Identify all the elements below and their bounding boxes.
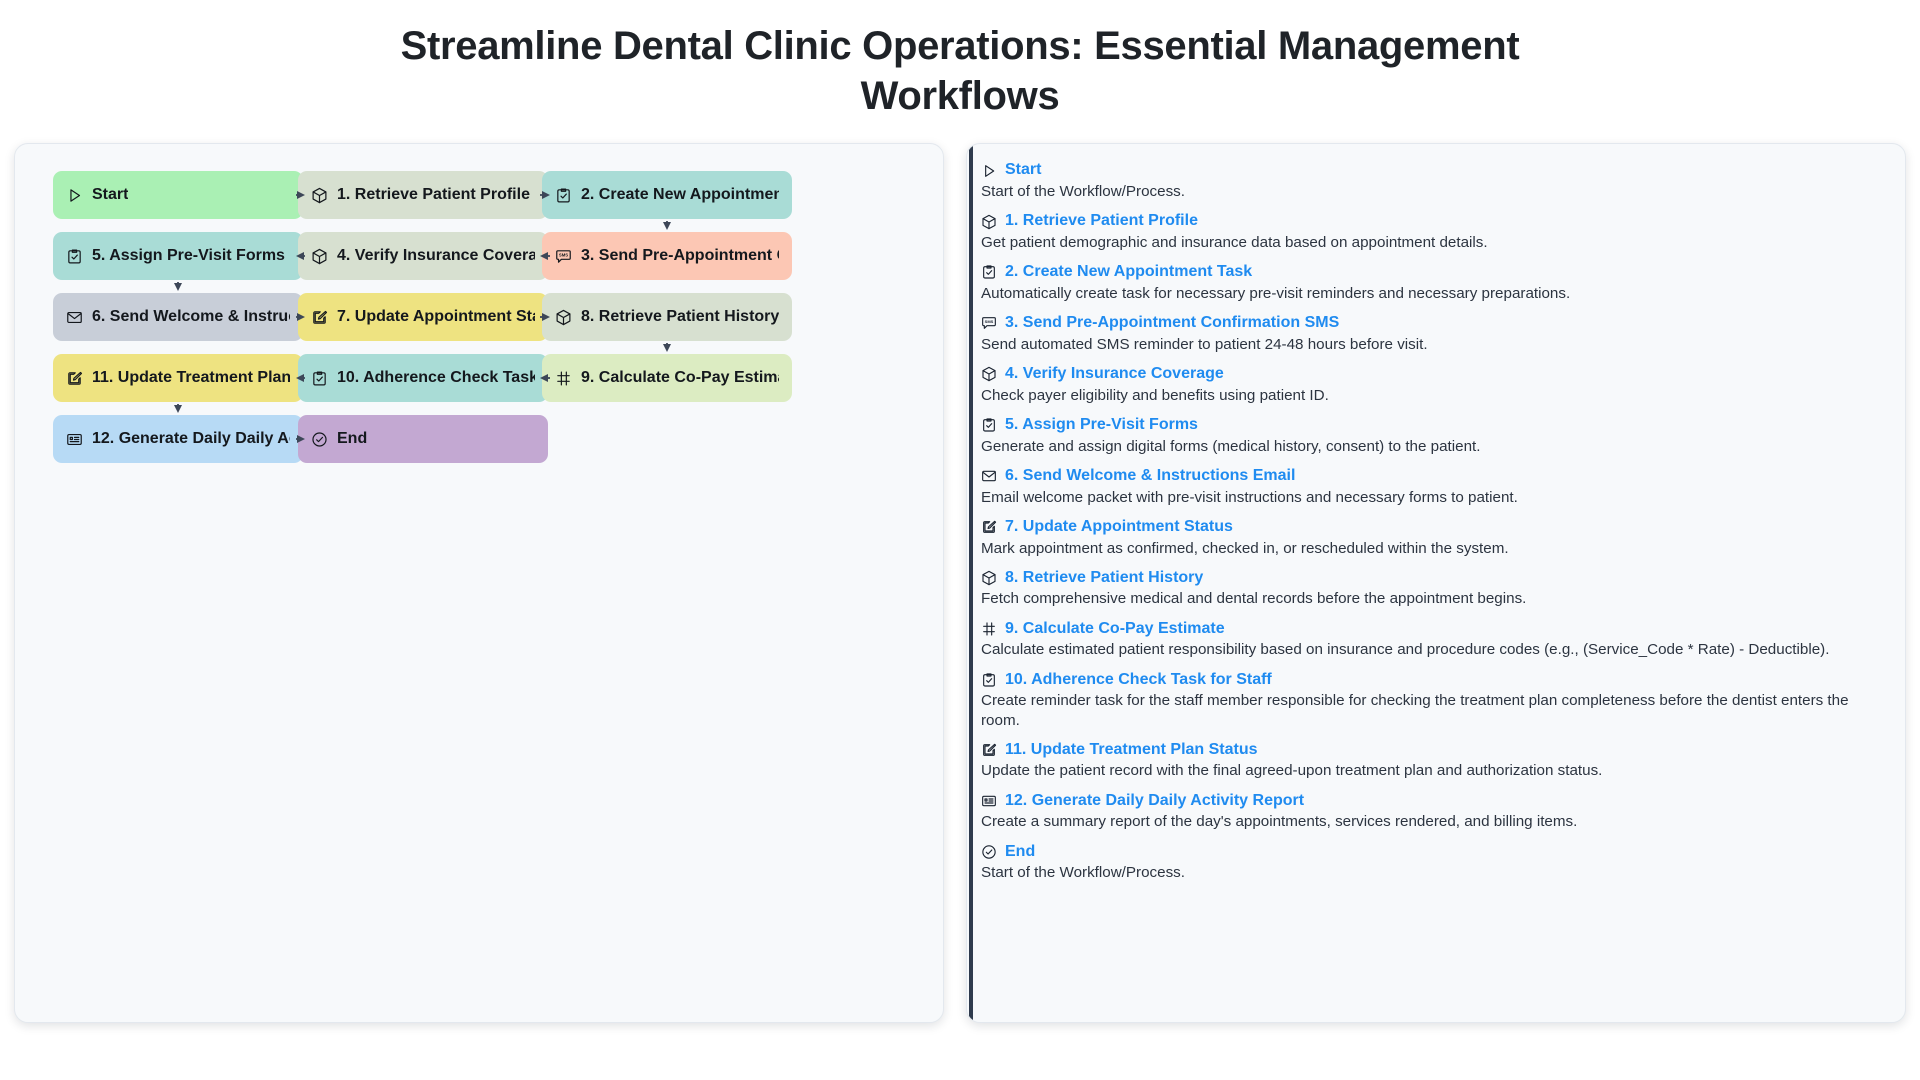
arrow-11-to-12 — [170, 404, 186, 413]
legend-list: StartStart of the Workflow/Process.1. Re… — [981, 160, 1893, 882]
legend-item[interactable]: 12. Generate Daily Daily Activity Report… — [981, 791, 1893, 832]
legend-item[interactable]: 2. Create New Appointment TaskAutomatica… — [981, 262, 1893, 303]
check-circle-icon — [981, 844, 997, 860]
svg-text:SMS: SMS — [985, 319, 994, 324]
legend-item-title: 4. Verify Insurance Coverage — [1005, 364, 1224, 385]
task-icon — [555, 187, 572, 204]
legend-item[interactable]: 4. Verify Insurance CoverageCheck payer … — [981, 364, 1893, 405]
flow-node-label: 1. Retrieve Patient Profile — [337, 186, 530, 204]
arrow-7-to-8 — [540, 309, 550, 325]
legend-item-header: Start — [981, 160, 1893, 181]
legend-item-header: 11. Update Treatment Plan Status — [981, 740, 1893, 761]
flow-node-label: 6. Send Welcome & Instructions Email — [92, 308, 290, 326]
legend-item-title: 2. Create New Appointment Task — [1005, 262, 1252, 283]
flow-node-n4[interactable]: 4. Verify Insurance Coverage — [298, 232, 548, 280]
flow-node-n1[interactable]: 1. Retrieve Patient Profile — [298, 171, 548, 219]
legend-item[interactable]: 6. Send Welcome & Instructions EmailEmai… — [981, 466, 1893, 507]
legend-item-header: 7. Update Appointment Status — [981, 517, 1893, 538]
flow-node-label: 11. Update Treatment Plan Status — [92, 369, 290, 387]
flow-node-label: 7. Update Appointment Status — [337, 308, 535, 326]
legend-item-title: 5. Assign Pre-Visit Forms — [1005, 415, 1198, 436]
cube-icon — [981, 366, 997, 382]
arrow-2-to-3 — [659, 221, 675, 230]
check-circle-icon — [311, 431, 328, 448]
flow-node-label: 2. Create New Appointment Task — [581, 186, 779, 204]
flow-node-n2[interactable]: 2. Create New Appointment Task — [542, 171, 792, 219]
legend-item[interactable]: 10. Adherence Check Task for StaffCreate… — [981, 670, 1893, 730]
report-icon — [981, 793, 997, 809]
legend-item-header: 1. Retrieve Patient Profile — [981, 211, 1893, 232]
legend-item[interactable]: 9. Calculate Co-Pay EstimateCalculate es… — [981, 619, 1893, 660]
legend-item-description: Fetch comprehensive medical and dental r… — [981, 589, 1883, 608]
arrow-1-to-2 — [540, 187, 550, 203]
flow-node-n7[interactable]: 7. Update Appointment Status — [298, 293, 548, 341]
cube-icon — [311, 187, 328, 204]
task-icon — [981, 672, 997, 688]
legend-item-title: 7. Update Appointment Status — [1005, 517, 1233, 538]
flow-node-n11[interactable]: 11. Update Treatment Plan Status — [53, 354, 303, 402]
task-icon — [311, 370, 328, 387]
legend-item-title: 11. Update Treatment Plan Status — [1005, 740, 1258, 761]
arrow-9-to-10 — [540, 370, 550, 386]
legend-item-title: 1. Retrieve Patient Profile — [1005, 211, 1198, 232]
arrow-3-to-4 — [540, 248, 550, 264]
pencil-icon — [981, 742, 997, 758]
flow-node-label: 9. Calculate Co-Pay Estimate — [581, 369, 779, 387]
legend-item-description: Create reminder task for the staff membe… — [981, 691, 1883, 729]
flow-node-end[interactable]: End — [298, 415, 548, 463]
flow-node-n3[interactable]: SMS3. Send Pre-Appointment Confirmation … — [542, 232, 792, 280]
legend-panel[interactable]: StartStart of the Workflow/Process.1. Re… — [966, 143, 1906, 1023]
calc-icon — [555, 370, 572, 387]
legend-item-description: Create a summary report of the day's app… — [981, 812, 1883, 831]
legend-item-description: Start of the Workflow/Process. — [981, 182, 1883, 201]
legend-item[interactable]: SMS3. Send Pre-Appointment Confirmation … — [981, 313, 1893, 354]
legend-item-header: SMS3. Send Pre-Appointment Confirmation … — [981, 313, 1893, 334]
flowchart-panel: Start1. Retrieve Patient Profile2. Creat… — [14, 143, 944, 1023]
flow-node-n5[interactable]: 5. Assign Pre-Visit Forms — [53, 232, 303, 280]
legend-item-description: Email welcome packet with pre-visit inst… — [981, 488, 1883, 507]
task-icon — [66, 248, 83, 265]
legend-item-title: 8. Retrieve Patient History — [1005, 568, 1203, 589]
arrow-12-to-end — [296, 431, 305, 447]
flow-node-label: Start — [92, 186, 128, 204]
legend-item-description: Check payer eligibility and benefits usi… — [981, 386, 1883, 405]
legend-item-description: Automatically create task for necessary … — [981, 284, 1883, 303]
cube-icon — [555, 309, 572, 326]
legend-item[interactable]: 5. Assign Pre-Visit FormsGenerate and as… — [981, 415, 1893, 456]
flow-node-label: End — [337, 430, 367, 448]
legend-item-description: Generate and assign digital forms (medic… — [981, 437, 1883, 456]
legend-item-header: 5. Assign Pre-Visit Forms — [981, 415, 1893, 436]
cube-icon — [981, 214, 997, 230]
pencil-icon — [66, 370, 83, 387]
legend-item[interactable]: StartStart of the Workflow/Process. — [981, 160, 1893, 201]
legend-item-header: 2. Create New Appointment Task — [981, 262, 1893, 283]
calc-icon — [981, 621, 997, 637]
legend-item-description: Mark appointment as confirmed, checked i… — [981, 539, 1883, 558]
flow-node-start[interactable]: Start — [53, 171, 303, 219]
task-icon — [981, 417, 997, 433]
sms-icon: SMS — [981, 315, 997, 331]
flow-node-n12[interactable]: 12. Generate Daily Daily Activity Report — [53, 415, 303, 463]
legend-item-title: 12. Generate Daily Daily Activity Report — [1005, 791, 1304, 812]
legend-item-header: 4. Verify Insurance Coverage — [981, 364, 1893, 385]
legend-item-header: 8. Retrieve Patient History — [981, 568, 1893, 589]
legend-item-title: Start — [1005, 160, 1041, 181]
legend-item[interactable]: 7. Update Appointment StatusMark appoint… — [981, 517, 1893, 558]
legend-item-description: Update the patient record with the final… — [981, 761, 1883, 780]
arrow-5-to-6 — [170, 282, 186, 291]
main-layout: Start1. Retrieve Patient Profile2. Creat… — [0, 121, 1920, 1023]
legend-item-header: 12. Generate Daily Daily Activity Report — [981, 791, 1893, 812]
legend-item-description: Calculate estimated patient responsibili… — [981, 640, 1883, 659]
flow-node-n6[interactable]: 6. Send Welcome & Instructions Email — [53, 293, 303, 341]
legend-item-header: 6. Send Welcome & Instructions Email — [981, 466, 1893, 487]
svg-text:SMS: SMS — [559, 252, 568, 257]
cube-icon — [981, 570, 997, 586]
page-title: Streamline Dental Clinic Operations: Ess… — [0, 0, 1920, 121]
flow-node-label: 4. Verify Insurance Coverage — [337, 247, 535, 265]
flow-node-label: 8. Retrieve Patient History — [581, 308, 779, 326]
play-icon — [981, 163, 997, 179]
flow-node-n8[interactable]: 8. Retrieve Patient History — [542, 293, 792, 341]
legend-item-title: 10. Adherence Check Task for Staff — [1005, 670, 1272, 691]
flow-node-n9[interactable]: 9. Calculate Co-Pay Estimate — [542, 354, 792, 402]
legend-item-description: Get patient demographic and insurance da… — [981, 233, 1883, 252]
mail-icon — [981, 468, 997, 484]
legend-item[interactable]: EndStart of the Workflow/Process. — [981, 842, 1893, 883]
flow-node-label: 12. Generate Daily Daily Activity Report — [92, 430, 290, 448]
legend-item-title: 6. Send Welcome & Instructions Email — [1005, 466, 1295, 487]
legend-item[interactable]: 1. Retrieve Patient ProfileGet patient d… — [981, 211, 1893, 252]
mail-icon — [66, 309, 83, 326]
flow-node-n10[interactable]: 10. Adherence Check Task — [298, 354, 548, 402]
legend-item-title: End — [1005, 842, 1035, 863]
cube-icon — [311, 248, 328, 265]
legend-item-title: 9. Calculate Co-Pay Estimate — [1005, 619, 1225, 640]
play-icon — [66, 187, 83, 204]
pencil-icon — [981, 519, 997, 535]
sms-icon: SMS — [555, 248, 572, 265]
legend-item-header: 10. Adherence Check Task for Staff — [981, 670, 1893, 691]
legend-item-description: Start of the Workflow/Process. — [981, 863, 1883, 882]
arrow-6-to-7 — [296, 309, 305, 325]
legend-item[interactable]: 8. Retrieve Patient HistoryFetch compreh… — [981, 568, 1893, 609]
arrow-4-to-5 — [296, 248, 305, 264]
arrow-start-to-1 — [296, 187, 305, 203]
flow-node-label: 10. Adherence Check Task — [337, 369, 535, 387]
flow-node-label: 3. Send Pre-Appointment Confirmation SMS — [581, 247, 779, 265]
report-icon — [66, 431, 83, 448]
legend-item-title: 3. Send Pre-Appointment Confirmation SMS — [1005, 313, 1339, 334]
arrow-8-to-9 — [659, 343, 675, 352]
task-icon — [981, 264, 997, 280]
pencil-icon — [311, 309, 328, 326]
legend-item-description: Send automated SMS reminder to patient 2… — [981, 335, 1883, 354]
arrow-10-to-11 — [296, 370, 305, 386]
legend-item-header: End — [981, 842, 1893, 863]
flow-node-label: 5. Assign Pre-Visit Forms — [92, 247, 285, 265]
legend-item-header: 9. Calculate Co-Pay Estimate — [981, 619, 1893, 640]
legend-item[interactable]: 11. Update Treatment Plan StatusUpdate t… — [981, 740, 1893, 781]
